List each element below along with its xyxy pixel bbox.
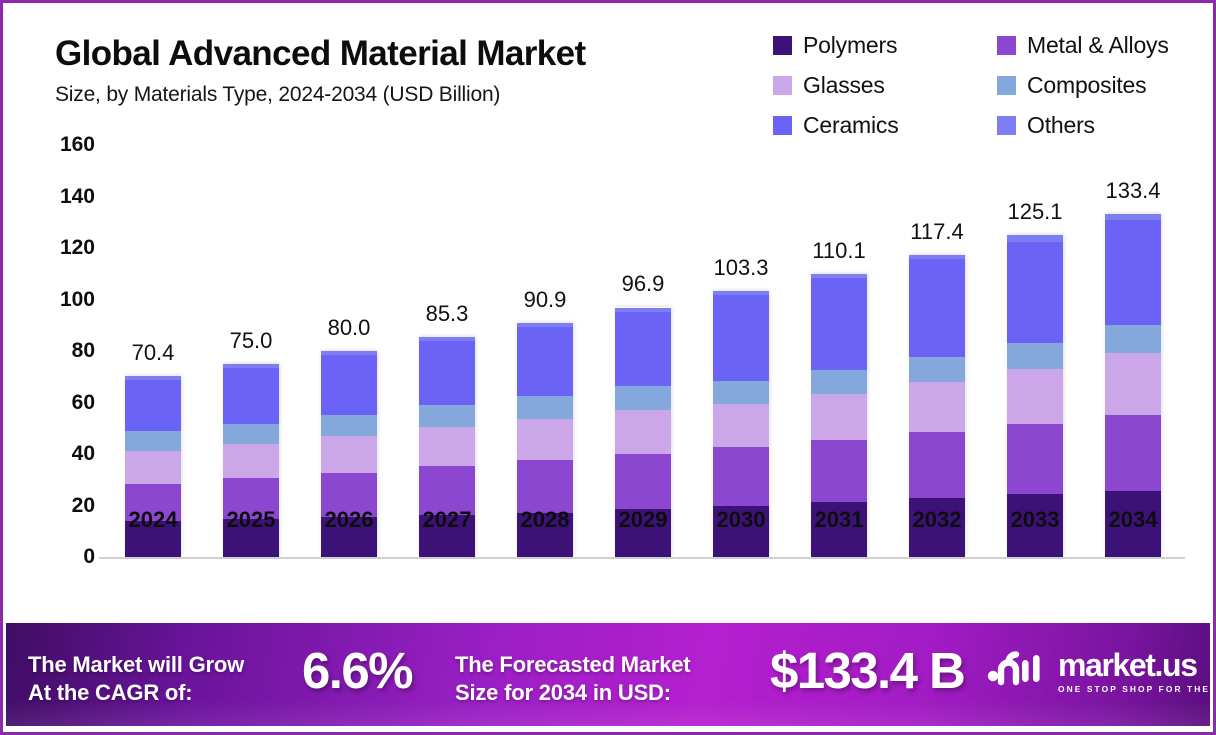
bar-segment-composites[interactable] xyxy=(321,415,377,436)
bar-segment-glasses[interactable] xyxy=(1007,369,1063,424)
bar-segment-glasses[interactable] xyxy=(321,436,377,473)
bar-value-label: 117.4 xyxy=(910,219,963,245)
bar-group-2033[interactable]: 125.12033 xyxy=(1007,235,1063,557)
bar-segment-composites[interactable] xyxy=(713,381,769,405)
bar-group-2027[interactable]: 85.32027 xyxy=(419,337,475,557)
cagr-value: 6.6% xyxy=(302,641,412,700)
y-axis-tick-20: 20 xyxy=(35,494,95,518)
x-axis-label-2029: 2029 xyxy=(619,507,668,533)
bar-segment-metal-alloys[interactable] xyxy=(909,432,965,497)
bar-segment-composites[interactable] xyxy=(811,370,867,395)
stacked-bar[interactable] xyxy=(1105,214,1161,558)
bar-segment-ceramics[interactable] xyxy=(419,341,475,405)
bar-segment-glasses[interactable] xyxy=(811,394,867,440)
bar-segment-ceramics[interactable] xyxy=(615,312,671,386)
bar-group-2024[interactable]: 70.42024 xyxy=(125,376,181,557)
bar-value-label: 133.4 xyxy=(1105,178,1160,204)
y-axis-tick-120: 120 xyxy=(35,236,95,260)
bar-segment-composites[interactable] xyxy=(1007,343,1063,370)
y-axis-tick-60: 60 xyxy=(35,391,95,415)
bar-value-label: 110.1 xyxy=(812,238,865,264)
bar-group-2034[interactable]: 133.42034 xyxy=(1105,214,1161,558)
bar-segment-metal-alloys[interactable] xyxy=(1007,424,1063,494)
bar-segment-glasses[interactable] xyxy=(419,427,475,466)
y-axis-tick-140: 140 xyxy=(35,185,95,209)
market-us-logo-text: market.us ONE STOP SHOP FOR THE REPORTS xyxy=(1058,649,1210,694)
x-axis-label-2031: 2031 xyxy=(815,507,864,533)
bar-group-2025[interactable]: 75.02025 xyxy=(223,364,279,557)
bar-group-2032[interactable]: 117.42032 xyxy=(909,255,965,557)
bar-value-label: 75.0 xyxy=(230,328,273,354)
y-axis-tick-160: 160 xyxy=(35,133,95,157)
bar-value-label: 80.0 xyxy=(328,315,371,341)
bar-value-label: 90.9 xyxy=(524,287,567,313)
bar-group-2031[interactable]: 110.12031 xyxy=(811,274,867,558)
x-axis-label-2025: 2025 xyxy=(227,507,276,533)
bar-value-label: 125.1 xyxy=(1007,199,1062,225)
bar-segment-ceramics[interactable] xyxy=(223,368,279,424)
bar-segment-glasses[interactable] xyxy=(909,382,965,432)
x-axis-line xyxy=(99,557,1185,559)
bar-segment-glasses[interactable] xyxy=(125,451,181,484)
bar-segment-composites[interactable] xyxy=(419,405,475,427)
bar-segment-ceramics[interactable] xyxy=(1105,220,1161,325)
bar-segment-glasses[interactable] xyxy=(517,419,573,461)
x-axis-label-2030: 2030 xyxy=(717,507,766,533)
bar-segment-composites[interactable] xyxy=(517,396,573,419)
bar-segment-composites[interactable] xyxy=(125,431,181,451)
x-axis-label-2032: 2032 xyxy=(913,507,962,533)
y-axis-tick-80: 80 xyxy=(35,339,95,363)
forecast-value: $133.4 B xyxy=(770,641,964,700)
bar-segment-metal-alloys[interactable] xyxy=(811,440,867,502)
bar-segment-composites[interactable] xyxy=(223,424,279,445)
bar-group-2026[interactable]: 80.02026 xyxy=(321,351,377,557)
bar-segment-metal-alloys[interactable] xyxy=(615,454,671,509)
bar-segment-ceramics[interactable] xyxy=(1007,242,1063,343)
x-axis-label-2034: 2034 xyxy=(1109,507,1158,533)
bar-segment-ceramics[interactable] xyxy=(517,327,573,396)
y-axis: 020406080100120140160 xyxy=(19,3,95,623)
bar-segment-ceramics[interactable] xyxy=(125,380,181,431)
bar-value-label: 103.3 xyxy=(713,255,768,281)
bar-segment-metal-alloys[interactable] xyxy=(713,447,769,506)
bar-value-label: 96.9 xyxy=(622,271,665,297)
bar-segment-metal-alloys[interactable] xyxy=(517,460,573,512)
bar-segment-glasses[interactable] xyxy=(615,410,671,455)
y-axis-tick-40: 40 xyxy=(35,442,95,466)
x-axis-label-2024: 2024 xyxy=(129,507,178,533)
y-axis-tick-100: 100 xyxy=(35,288,95,312)
bar-segment-others[interactable] xyxy=(1007,235,1063,242)
brand-tagline: ONE STOP SHOP FOR THE REPORTS xyxy=(1058,684,1210,694)
bar-segment-ceramics[interactable] xyxy=(713,295,769,380)
x-axis-label-2027: 2027 xyxy=(423,507,472,533)
x-axis-label-2033: 2033 xyxy=(1011,507,1060,533)
market-us-logo[interactable]: market.us ONE STOP SHOP FOR THE REPORTS xyxy=(986,649,1210,694)
bar-segment-composites[interactable] xyxy=(909,357,965,382)
forecast-caption: The Forecasted Market Size for 2034 in U… xyxy=(455,651,690,707)
x-axis-label-2028: 2028 xyxy=(521,507,570,533)
infographic-root: Global Advanced Material Market Size, by… xyxy=(0,0,1216,735)
bar-group-2029[interactable]: 96.92029 xyxy=(615,307,671,557)
bar-segment-glasses[interactable] xyxy=(223,444,279,477)
chart-plot-area: 020406080100120140160 70.4202475.0202580… xyxy=(3,3,1216,623)
bar-group-2028[interactable]: 90.92028 xyxy=(517,323,573,557)
bar-segment-glasses[interactable] xyxy=(713,404,769,446)
bar-segment-composites[interactable] xyxy=(615,386,671,410)
brand-name: market.us xyxy=(1058,649,1210,681)
footer-banner: The Market will Grow At the CAGR of: 6.6… xyxy=(6,623,1210,726)
bar-segment-metal-alloys[interactable] xyxy=(1105,415,1161,491)
bar-value-label: 85.3 xyxy=(426,301,469,327)
bar-group-2030[interactable]: 103.32030 xyxy=(713,291,769,557)
bar-value-label: 70.4 xyxy=(132,340,175,366)
x-axis-label-2026: 2026 xyxy=(325,507,374,533)
bar-segment-glasses[interactable] xyxy=(1105,353,1161,415)
bar-segment-ceramics[interactable] xyxy=(909,259,965,357)
market-us-logo-mark xyxy=(986,649,1048,694)
bar-segment-composites[interactable] xyxy=(1105,325,1161,353)
bar-segment-ceramics[interactable] xyxy=(811,278,867,370)
bar-segment-ceramics[interactable] xyxy=(321,355,377,415)
cagr-caption: The Market will Grow At the CAGR of: xyxy=(28,651,244,707)
y-axis-tick-0: 0 xyxy=(35,545,95,569)
